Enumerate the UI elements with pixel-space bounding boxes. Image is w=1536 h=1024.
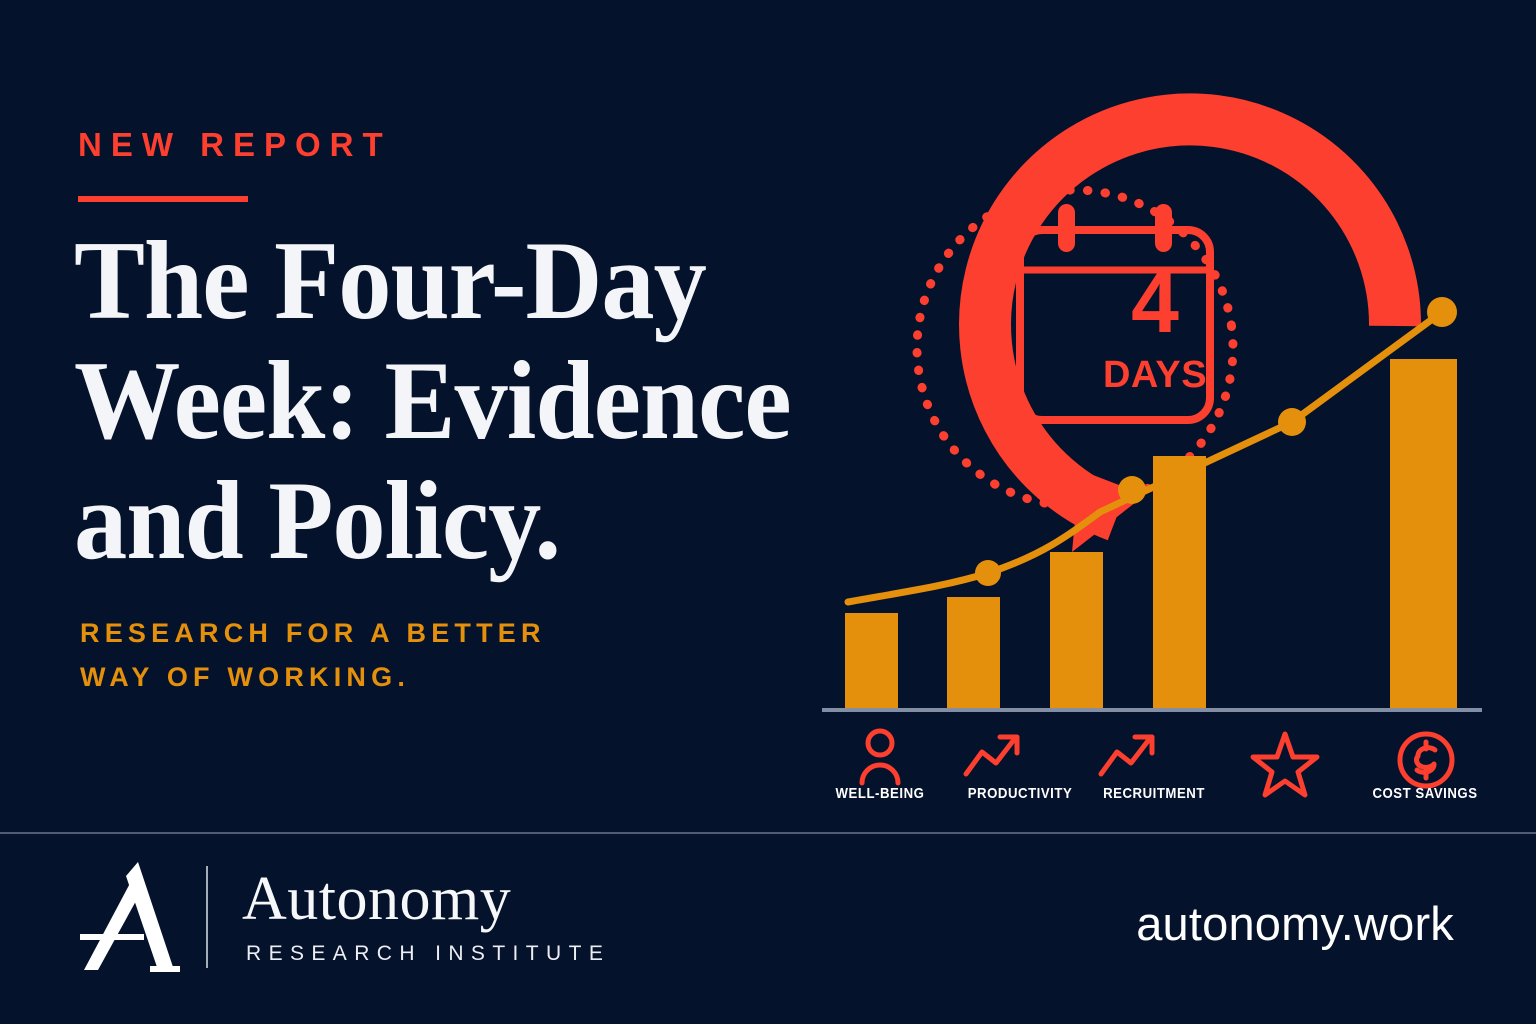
poster-canvas: NEW REPORT The Four-Day Week: Evidence a… <box>0 0 1536 1024</box>
chart-label-cost-savings: COST SAVINGS <box>1372 785 1477 802</box>
trend-up-icon <box>966 737 1017 774</box>
title-line-1: The Four-Day <box>74 222 853 342</box>
trend-up-icon <box>1101 737 1152 774</box>
badge-unit: DAYS <box>1079 356 1231 394</box>
org-subtitle: RESEARCH INSTITUTE <box>246 942 610 966</box>
infographic-svg <box>800 40 1500 810</box>
autonomy-a-monogram <box>80 858 180 976</box>
org-name: Autonomy <box>242 868 610 931</box>
logo-wordmark: Autonomy RESEARCH INSTITUTE <box>242 868 610 965</box>
title-line-2: Week: Evidence <box>74 342 853 462</box>
bar-well-being <box>845 613 898 708</box>
subtitle-line-1: RESEARCH FOR A BETTER <box>80 612 720 656</box>
trend-dot-4 <box>1427 297 1457 327</box>
dollar-circle-icon <box>1400 734 1452 786</box>
star-icon <box>1253 734 1317 795</box>
website-url[interactable]: autonomy.work <box>1136 896 1454 951</box>
bar-group <box>845 359 1457 708</box>
bar-star <box>1153 456 1206 708</box>
bar-productivity <box>947 597 1000 708</box>
chart-label-recruitment: RECRUITMENT <box>1103 785 1205 802</box>
subtitle: RESEARCH FOR A BETTER WAY OF WORKING. <box>80 612 720 699</box>
eyebrow-label: NEW REPORT <box>78 128 392 161</box>
trend-dot-1 <box>975 560 1001 586</box>
bar-cost-savings <box>1390 359 1457 708</box>
page-title: The Four-Day Week: Evidence and Policy. <box>74 222 853 581</box>
brand-logo[interactable]: Autonomy RESEARCH INSTITUTE <box>80 858 610 976</box>
footer: Autonomy RESEARCH INSTITUTE autonomy.wor… <box>0 834 1536 1024</box>
eyebrow-rule <box>78 196 248 202</box>
chart-label-productivity: PRODUCTIVITY <box>968 785 1073 802</box>
person-icon <box>862 731 898 783</box>
title-line-3: and Policy. <box>74 462 853 582</box>
bar-recruitment <box>1050 552 1103 708</box>
badge-number: 4 <box>1079 260 1231 346</box>
subtitle-line-2: WAY OF WORKING. <box>80 656 720 700</box>
trend-dot-3 <box>1278 408 1306 436</box>
infographic: 4 DAYS WELL-BEING PRODUCTIVITY RECRUITME… <box>800 40 1500 810</box>
chart-label-well-being: WELL-BEING <box>836 785 925 802</box>
logo-divider <box>206 866 208 968</box>
trend-dot-2 <box>1118 476 1146 504</box>
